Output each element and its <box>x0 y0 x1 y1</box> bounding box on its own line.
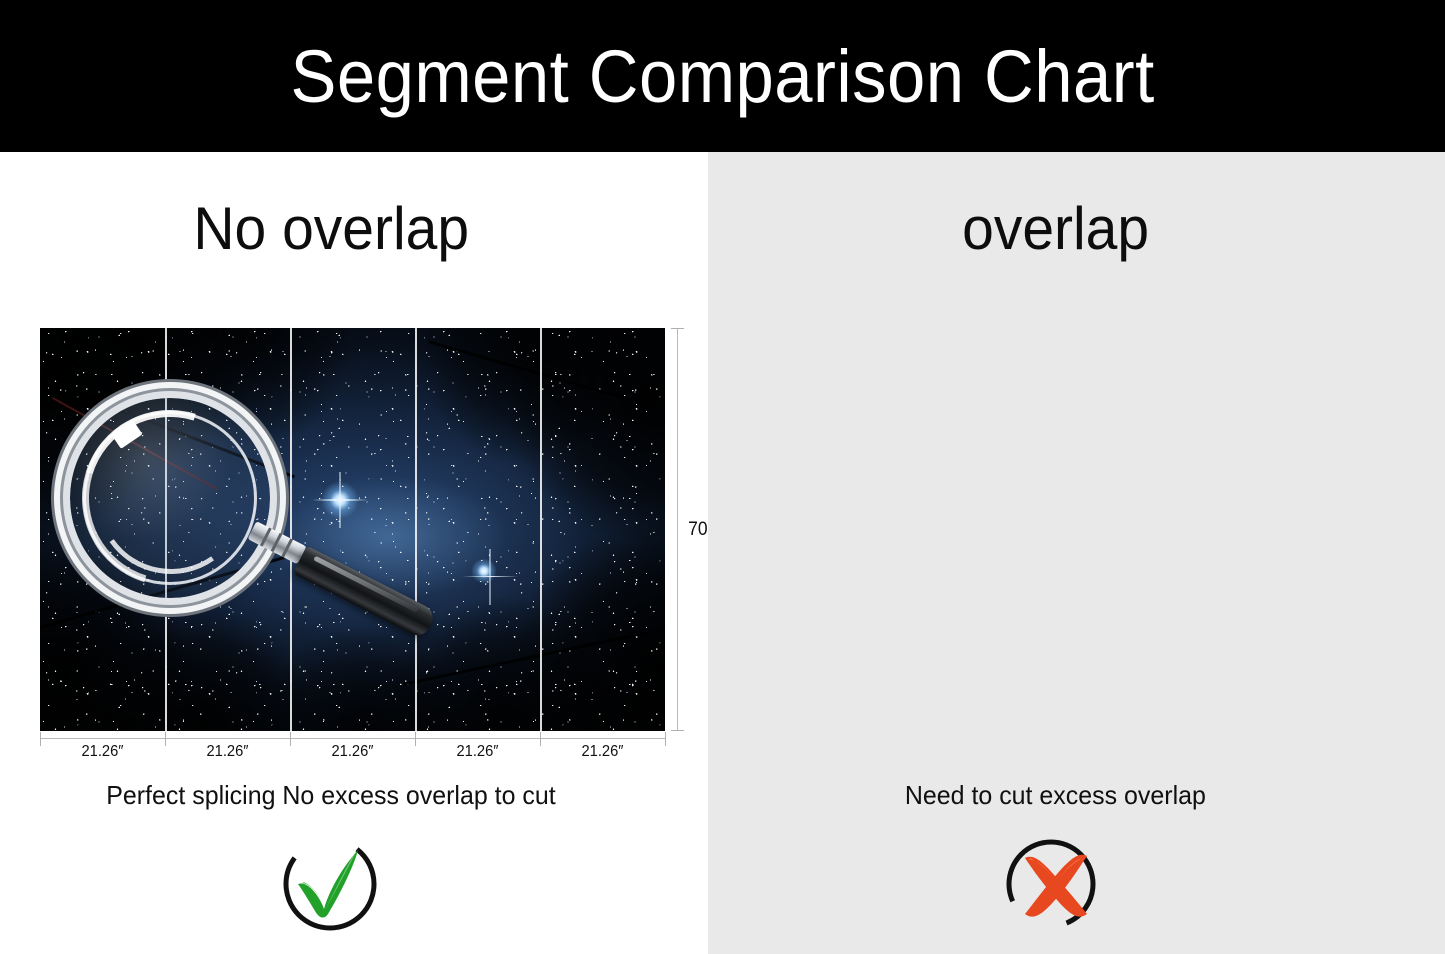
dimension-tick <box>665 732 666 746</box>
segment-label: 21.26″ <box>295 743 410 761</box>
caption-no-overlap: Perfect splicing No excess overlap to cu… <box>14 780 694 811</box>
dimension-strip-bottom-left: 21.26″ 21.26″ 21.26″ 21.26″ 21.26″ <box>40 731 665 771</box>
title-bar: Segment Comparison Chart <box>0 0 1445 152</box>
panel-no-overlap: No overlap <box>0 152 708 954</box>
panel-heading-overlap: overlap <box>726 194 1426 263</box>
dimension-tick <box>415 732 416 746</box>
dimension-tick <box>290 732 291 746</box>
check-circle-icon <box>278 832 382 936</box>
dimension-cap <box>671 328 684 329</box>
starry-forest-photo <box>40 328 665 731</box>
dimension-tick <box>540 732 541 746</box>
segment-label: 21.26″ <box>45 743 160 761</box>
dimension-tick <box>165 732 166 746</box>
segment-label: 21.26″ <box>420 743 535 761</box>
dimension-axis <box>40 738 665 739</box>
figure-no-overlap: 21.26″ 21.26″ 21.26″ 21.26″ 21.26″ 70″ <box>40 328 665 731</box>
dimension-axis <box>677 328 678 731</box>
segment-label: 21.26″ <box>545 743 660 761</box>
dimension-cap <box>671 730 684 731</box>
panel-heading-no-overlap: No overlap <box>18 194 691 263</box>
segment-divider <box>540 328 542 731</box>
segment-label: 21.26″ <box>170 743 285 761</box>
panel-overlap: overlap <box>708 152 1445 954</box>
star-field-layer <box>40 328 665 731</box>
segment-divider <box>415 328 417 731</box>
cross-circle-icon <box>1003 832 1107 936</box>
verdict-overlap <box>708 832 1445 936</box>
comparison-panels: No overlap <box>0 152 1445 954</box>
verdict-no-overlap <box>0 832 708 936</box>
page-title: Segment Comparison Chart <box>290 34 1154 119</box>
check-stroke-highlight2 <box>325 852 356 910</box>
segment-divider <box>290 328 292 731</box>
dimension-tick <box>40 732 41 746</box>
caption-overlap: Need to cut excess overlap <box>723 780 1431 811</box>
segment-divider <box>165 328 167 731</box>
